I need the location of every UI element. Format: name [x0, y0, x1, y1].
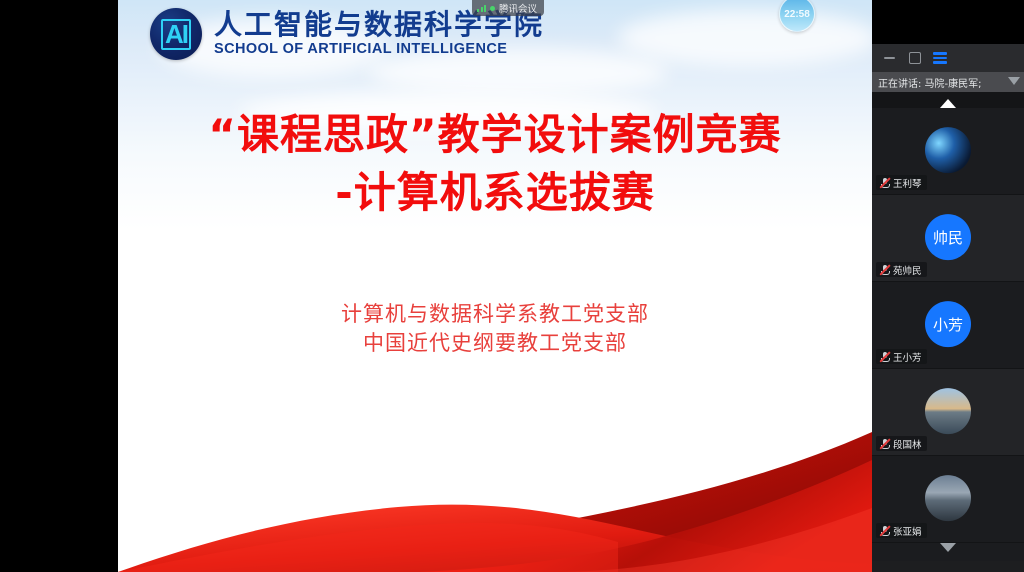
participant-name-tag: 王小芳	[876, 349, 927, 364]
participant-name: 段国林	[893, 437, 922, 451]
meeting-app-label: 腾讯会议	[499, 1, 537, 15]
avatar	[925, 475, 971, 521]
meeting-timer-value: 22:58	[784, 9, 810, 20]
slide-title-line-2: -计算机系选拔赛	[118, 164, 872, 222]
red-ribbon-svg	[118, 412, 872, 572]
panel-titlebar	[872, 44, 1024, 72]
cloud-shape	[618, 10, 872, 66]
maximize-button[interactable]	[908, 52, 921, 65]
brand-text: 人工智能与数据科学学院 SCHOOL OF ARTIFICIAL INTELLI…	[214, 11, 544, 57]
slide-subtitle-line-1: 计算机与数据科学系教工党支部	[118, 300, 872, 329]
chevron-up-icon	[1008, 77, 1020, 85]
participant-name-tag: 张亚娟	[876, 523, 927, 538]
slide-subtitle: 计算机与数据科学系教工党支部 中国近代史纲要教工党支部	[118, 300, 872, 358]
participant-name: 王利琴	[893, 176, 922, 190]
participant-name: 苑帅民	[893, 263, 922, 277]
scroll-up-button[interactable]	[872, 92, 1024, 108]
participant-name-tag: 苑帅民	[876, 262, 927, 277]
participant-tile[interactable]: 段国林	[872, 369, 1024, 456]
avatar: 帅民	[925, 214, 971, 260]
mic-muted-icon	[879, 525, 890, 536]
participant-name: 张亚娟	[893, 524, 922, 538]
participant-panel[interactable]: 正在讲话: 马院-康民军; 王利琴 帅民 苑帅民 小芳 王小芳	[872, 44, 1024, 572]
participant-tile[interactable]: 张亚娟	[872, 456, 1024, 543]
slide-title: “课程思政”教学设计案例竞赛 -计算机系选拔赛	[118, 106, 872, 222]
participant-tile[interactable]: 王利琴	[872, 108, 1024, 195]
avatar	[925, 127, 971, 173]
menu-button[interactable]	[933, 52, 946, 65]
participant-tile[interactable]: 帅民 苑帅民	[872, 195, 1024, 282]
tencent-meeting-badge: 腾讯会议	[472, 0, 544, 16]
chevron-up-icon	[940, 99, 956, 108]
hamburger-menu-icon	[933, 52, 947, 55]
maximize-icon	[909, 52, 921, 64]
school-logo-icon: AI	[150, 8, 202, 60]
shared-slide-stage[interactable]: AI 人工智能与数据科学学院 SCHOOL OF ARTIFICIAL INTE…	[118, 0, 872, 572]
mic-muted-icon	[879, 177, 890, 188]
mic-muted-icon	[879, 264, 890, 275]
participant-name: 王小芳	[893, 350, 922, 364]
screen-root: AI 人工智能与数据科学学院 SCHOOL OF ARTIFICIAL INTE…	[0, 0, 1024, 572]
slide-title-line-1: “课程思政”教学设计案例竞赛	[118, 106, 872, 164]
signal-bars-icon	[477, 4, 486, 12]
scroll-down-button[interactable]	[872, 543, 1024, 561]
mic-muted-icon	[879, 438, 890, 449]
slide-subtitle-line-2: 中国近代史纲要教工党支部	[118, 329, 872, 358]
minimize-button[interactable]	[883, 52, 896, 65]
speaking-label: 正在讲话: 马院-康民军;	[878, 75, 982, 90]
recording-dot-icon	[490, 6, 495, 11]
minimize-icon	[884, 57, 895, 59]
avatar: 小芳	[925, 301, 971, 347]
participant-tile[interactable]: 小芳 王小芳	[872, 282, 1024, 369]
chevron-down-icon	[940, 543, 956, 552]
logo-monogram: AI	[161, 19, 191, 50]
avatar	[925, 388, 971, 434]
speaking-banner: 正在讲话: 马院-康民军;	[872, 72, 1024, 92]
participant-name-tag: 段国林	[876, 436, 927, 451]
brand-name-en: SCHOOL OF ARTIFICIAL INTELLIGENCE	[214, 42, 544, 57]
participant-name-tag: 王利琴	[876, 175, 927, 190]
red-ribbon-decoration	[118, 412, 872, 572]
mic-muted-icon	[879, 351, 890, 362]
